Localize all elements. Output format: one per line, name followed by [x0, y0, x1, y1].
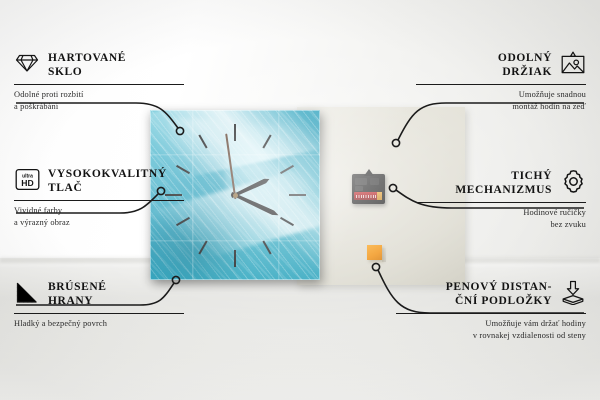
feature-subtitle-line1: Vividné farby: [14, 205, 184, 217]
feature-subtitle-line2: a výrazný obraz: [14, 217, 184, 229]
feature-subtitle: Vividné farby a výrazný obraz: [14, 205, 184, 229]
feature-title-line2: DRŽIAK: [498, 65, 552, 79]
feature-title: TICHÝ MECHANIZMUS: [455, 168, 552, 198]
feature-high-quality-print[interactable]: ultra HD VYSOKOKVALITNÝ TLAČ Vividné far…: [14, 166, 184, 229]
feature-header: ODOLNÝ DRŽIAK: [416, 50, 586, 80]
feature-header: BRÚSENÉ HRANY: [14, 279, 184, 309]
feature-subtitle: Hodinové ručičky bez zvuku: [416, 207, 586, 231]
feature-foam-spacers[interactable]: PENOVÝ DISTAN- ČNÍ PODLOŽKY Umožňuje vám…: [396, 279, 586, 342]
feature-title-line1: PENOVÝ DISTAN-: [446, 280, 552, 294]
feature-subtitle-line2: montáž hodin na zeď: [416, 101, 586, 113]
feature-divider: [396, 313, 586, 315]
feature-title: BRÚSENÉ HRANY: [48, 279, 107, 309]
feature-beveled-edges[interactable]: BRÚSENÉ HRANY Hladký a bezpečný povrch: [14, 279, 184, 330]
feature-subtitle-line2: v rovnakej vzdialenosti od steny: [396, 330, 586, 342]
feature-title-line2: ČNÍ PODLOŽKY: [446, 294, 552, 308]
feature-divider: [14, 84, 184, 86]
feature-tempered-glass[interactable]: HARTOVANÉ SKLO Odolné proti rozbití a po…: [14, 50, 184, 113]
feature-subtitle-line1: Odolné proti rozbití: [14, 89, 184, 101]
feature-divider: [14, 200, 184, 202]
feature-subtitle-line1: Hodinové ručičky: [416, 207, 586, 219]
feature-title-line1: ODOLNÝ: [498, 51, 552, 65]
feature-subtitle-line1: Hladký a bezpečný povrch: [14, 318, 184, 330]
feature-header: HARTOVANÉ SKLO: [14, 50, 184, 80]
feature-title-line2: HRANY: [48, 294, 107, 308]
infographic-canvas: HARTOVANÉ SKLO Odolné proti rozbití a po…: [0, 0, 600, 400]
feature-divider: [416, 202, 586, 204]
ultra-hd-icon: ultra HD: [14, 166, 40, 192]
feature-durable-hanger[interactable]: ODOLNÝ DRŽIAK Umožňuje snadnou montáž ho…: [416, 50, 586, 113]
feature-title-line1: VYSOKOKVALITNÝ: [48, 167, 167, 181]
feature-divider: [416, 84, 586, 86]
feature-subtitle-line2: a poškrábání: [14, 101, 184, 113]
feature-header: TICHÝ MECHANIZMUS: [416, 168, 586, 198]
feature-subtitle: Umožňuje snadnou montáž hodin na zeď: [416, 89, 586, 113]
feature-title-line2: TLAČ: [48, 181, 167, 195]
feature-title-line2: MECHANIZMUS: [455, 183, 552, 197]
picture-hanger-icon: [560, 50, 586, 76]
diamond-icon: [14, 50, 40, 76]
feature-title-line1: BRÚSENÉ: [48, 280, 107, 294]
feature-subtitle-line2: bez zvuku: [416, 219, 586, 231]
feature-subtitle-line1: Umožňuje snadnou: [416, 89, 586, 101]
feature-title-line1: HARTOVANÉ: [48, 51, 126, 65]
feature-title: PENOVÝ DISTAN- ČNÍ PODLOŽKY: [446, 279, 552, 309]
feature-subtitle: Odolné proti rozbití a poškrábání: [14, 89, 184, 113]
feature-title-line1: TICHÝ: [455, 169, 552, 183]
feature-subtitle: Hladký a bezpečný povrch: [14, 318, 184, 330]
gear-icon: [560, 168, 586, 194]
feature-subtitle: Umožňuje vám držať hodiny v rovnakej vzd…: [396, 318, 586, 342]
feature-subtitle-line1: Umožňuje vám držať hodiny: [396, 318, 586, 330]
feature-title: HARTOVANÉ SKLO: [48, 50, 126, 80]
feature-title: ODOLNÝ DRŽIAK: [498, 50, 552, 80]
beveled-edge-icon: [14, 279, 40, 305]
svg-text:HD: HD: [21, 178, 33, 188]
feature-title: VYSOKOKVALITNÝ TLAČ: [48, 166, 167, 196]
feature-title-line2: SKLO: [48, 65, 126, 79]
feature-silent-mechanism[interactable]: TICHÝ MECHANIZMUS Hodinové ručičky bez z…: [416, 168, 586, 231]
feature-divider: [14, 313, 184, 315]
foam-spacer-icon: [560, 279, 586, 305]
feature-header: PENOVÝ DISTAN- ČNÍ PODLOŽKY: [396, 279, 586, 309]
feature-header: ultra HD VYSOKOKVALITNÝ TLAČ: [14, 166, 184, 196]
